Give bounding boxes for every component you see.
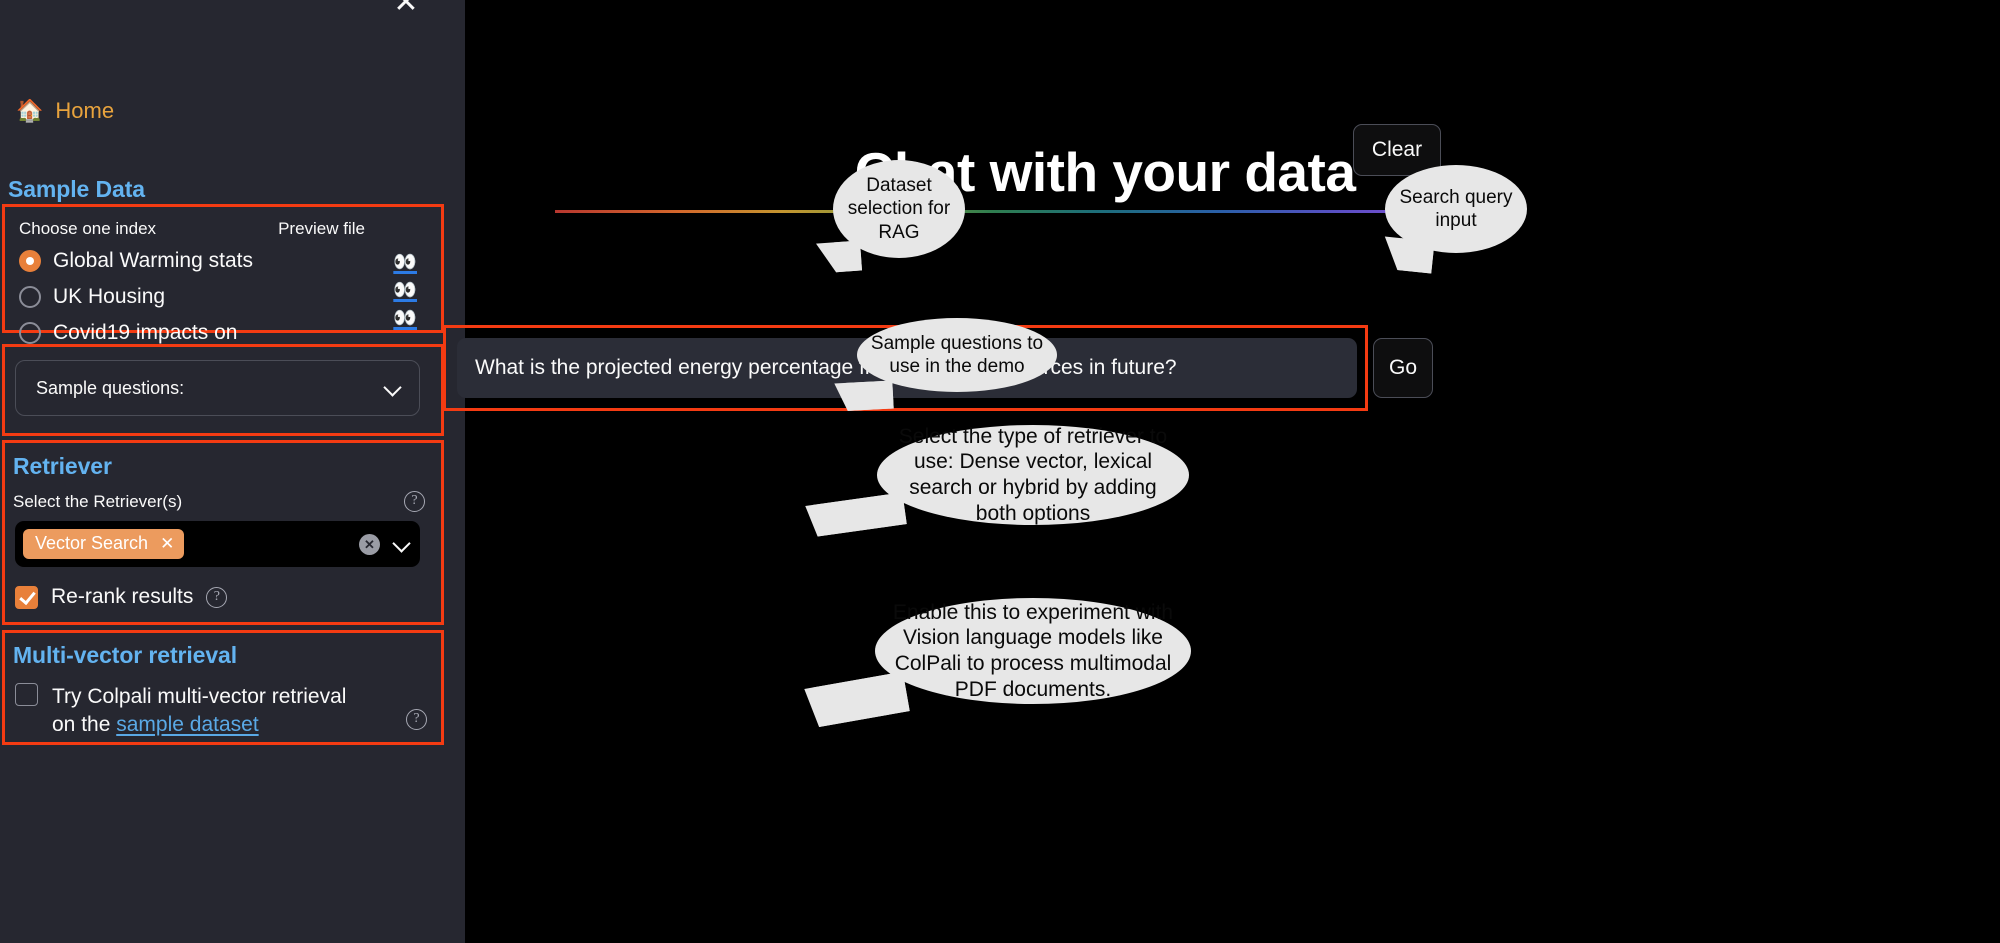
close-icon[interactable]: ✕ — [389, 0, 423, 20]
retriever-tag-label: Vector Search — [35, 533, 148, 554]
clear-all-icon[interactable]: ✕ — [359, 534, 380, 555]
chevron-down-icon[interactable] — [394, 536, 410, 552]
rerank-label: Re-rank results — [51, 585, 193, 609]
callout-tail — [804, 672, 909, 729]
help-icon[interactable]: ? — [206, 587, 227, 608]
callout-tail — [834, 381, 893, 412]
rerank-checkbox[interactable] — [15, 586, 38, 609]
go-button[interactable]: Go — [1373, 338, 1433, 398]
callout-tail — [816, 241, 862, 274]
sample-questions-select[interactable]: Sample questions: — [15, 360, 420, 416]
radio-icon[interactable] — [19, 250, 41, 272]
app-root: ✕ 🏠 Home Sample Data Choose one index Pr… — [0, 0, 2000, 943]
radio-label: Global Warming stats — [53, 248, 253, 275]
sample-dataset-link[interactable]: sample dataset — [116, 713, 258, 736]
retriever-multiselect[interactable]: Vector Search ✕ ✕ — [15, 521, 420, 567]
callout-text: Dataset selection for RAG — [843, 174, 955, 244]
sample-data-heading: Sample Data — [8, 176, 145, 203]
colpali-label: Try Colpali multi-vector retrieval on th… — [52, 683, 352, 738]
callout-dataset-selection: Dataset selection for RAG — [833, 160, 965, 258]
choose-index-label: Choose one index — [19, 219, 156, 239]
colpali-checkbox[interactable] — [15, 683, 38, 706]
retriever-select-label: Select the Retriever(s) — [13, 492, 182, 512]
radio-option-uk-housing[interactable]: UK Housing — [19, 284, 427, 311]
chevron-down-icon[interactable] — [385, 380, 401, 396]
sample-questions-placeholder: Sample questions: — [36, 378, 184, 399]
callout-text: Sample questions to use in the demo — [869, 332, 1045, 378]
sidebar: ✕ 🏠 Home Sample Data Choose one index Pr… — [0, 0, 465, 943]
retriever-panel: Retriever Select the Retriever(s) ? Vect… — [2, 440, 444, 625]
sample-questions-panel: Sample questions: — [2, 344, 444, 436]
retriever-heading: Retriever — [13, 453, 112, 480]
main-content: Clear Chat with your data Go Dataset sel… — [465, 0, 2000, 943]
page-title: Chat with your data — [455, 140, 1755, 204]
callout-search-query: Search query input — [1385, 165, 1527, 253]
callout-tail — [1381, 236, 1434, 273]
preview-eyes-icon[interactable]: 👀 — [393, 281, 417, 301]
callout-text: Enable this to experiment with Vision la… — [891, 600, 1175, 702]
preview-links: 👀 👀 👀 — [393, 253, 417, 329]
preview-eyes-icon[interactable]: 👀 — [393, 309, 417, 329]
preview-file-label: Preview file — [278, 219, 365, 239]
preview-eyes-icon[interactable]: 👀 — [393, 253, 417, 273]
multi-vector-heading: Multi-vector retrieval — [13, 642, 237, 669]
callout-text: Select the type of retriever to use: Den… — [893, 424, 1173, 526]
home-icon: 🏠 — [16, 98, 43, 124]
gradient-divider — [555, 210, 1430, 213]
callout-tail — [805, 492, 906, 537]
radio-icon[interactable] — [19, 322, 41, 344]
dataset-selection-panel: Choose one index Preview file Global War… — [2, 204, 444, 333]
multi-vector-panel: Multi-vector retrieval Try Colpali multi… — [2, 630, 444, 745]
home-label: Home — [55, 98, 114, 124]
callout-colpali: Enable this to experiment with Vision la… — [875, 598, 1191, 704]
help-icon[interactable]: ? — [406, 709, 427, 730]
sidebar-item-home[interactable]: 🏠 Home — [16, 98, 114, 124]
radio-icon[interactable] — [19, 286, 41, 308]
radio-label: UK Housing — [53, 284, 165, 311]
help-icon[interactable]: ? — [404, 491, 425, 512]
rerank-results-row[interactable]: Re-rank results ? — [15, 585, 227, 609]
radio-option-global-warming[interactable]: Global Warming stats — [19, 248, 427, 275]
callout-sample-questions: Sample questions to use in the demo — [857, 318, 1057, 392]
callout-retriever: Select the type of retriever to use: Den… — [877, 425, 1189, 525]
remove-tag-icon[interactable]: ✕ — [160, 534, 174, 554]
callout-text: Search query input — [1399, 186, 1513, 232]
retriever-tag-vector-search[interactable]: Vector Search ✕ — [23, 529, 184, 559]
